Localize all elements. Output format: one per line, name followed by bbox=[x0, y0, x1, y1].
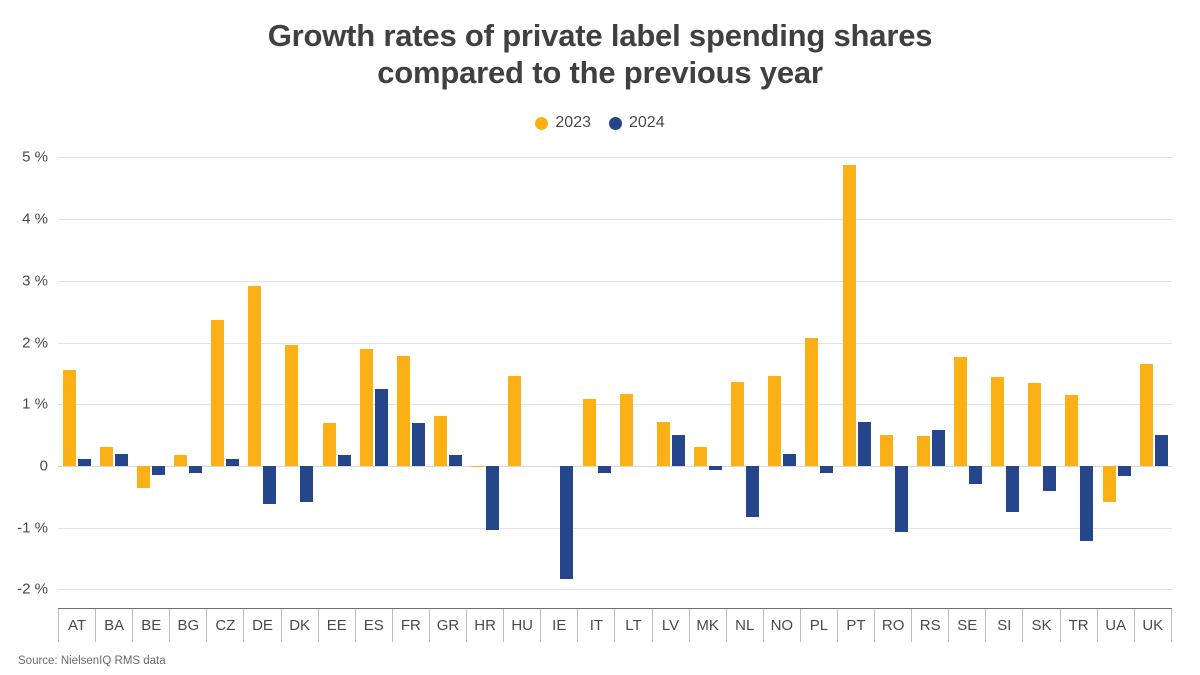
bar-PT-2024[interactable] bbox=[858, 422, 871, 466]
bar-group-AT bbox=[58, 145, 95, 608]
bar-SK-2024[interactable] bbox=[1043, 466, 1056, 491]
bar-group-RO bbox=[875, 145, 912, 608]
x-axis-labels: ATBABEBGCZDEDKEEESFRGRHRHUIEITLTLVMKNLNO… bbox=[58, 608, 1172, 642]
bar-group-SI bbox=[987, 145, 1024, 608]
y-axis-tick-label: 2 % bbox=[22, 334, 48, 351]
bar-NL-2023[interactable] bbox=[731, 382, 744, 466]
bar-group-BG bbox=[169, 145, 206, 608]
x-axis-tick-DK: DK bbox=[282, 609, 319, 642]
bar-RS-2023[interactable] bbox=[917, 436, 930, 466]
bar-UA-2024[interactable] bbox=[1118, 466, 1131, 476]
x-axis-tick-BE: BE bbox=[133, 609, 170, 642]
x-axis-tick-IT: IT bbox=[578, 609, 615, 642]
x-axis-tick-SE: SE bbox=[949, 609, 986, 642]
bar-NL-2024[interactable] bbox=[746, 466, 759, 517]
y-axis-tick-label: 1 % bbox=[22, 396, 48, 413]
legend-dot-icon bbox=[609, 117, 622, 130]
bar-BA-2023[interactable] bbox=[100, 447, 113, 466]
bar-group-PT bbox=[838, 145, 875, 608]
x-axis-tick-BA: BA bbox=[96, 609, 133, 642]
bar-EE-2023[interactable] bbox=[323, 423, 336, 466]
bar-group-UK bbox=[1135, 145, 1172, 608]
bar-group-UA bbox=[1098, 145, 1135, 608]
x-axis-tick-AT: AT bbox=[58, 609, 96, 642]
plot-area bbox=[58, 145, 1172, 608]
bar-group-HU bbox=[504, 145, 541, 608]
bar-FR-2024[interactable] bbox=[412, 423, 425, 466]
bar-group-EE bbox=[318, 145, 355, 608]
legend-item-2023[interactable]: 2023 bbox=[535, 114, 591, 132]
bar-BG-2024[interactable] bbox=[189, 466, 202, 473]
bar-RO-2023[interactable] bbox=[880, 435, 893, 466]
chart-page: Growth rates of private label spending s… bbox=[0, 0, 1200, 675]
legend-dot-icon bbox=[535, 117, 548, 130]
bar-SI-2023[interactable] bbox=[991, 377, 1004, 467]
bar-MK-2023[interactable] bbox=[694, 447, 707, 466]
bar-group-SE bbox=[949, 145, 986, 608]
bar-group-DK bbox=[281, 145, 318, 608]
bar-group-MK bbox=[689, 145, 726, 608]
bar-HU-2023[interactable] bbox=[508, 376, 521, 466]
bar-NO-2023[interactable] bbox=[768, 376, 781, 466]
y-axis-tick-label: 5 % bbox=[22, 149, 48, 166]
y-axis-labels: 5 %4 %3 %2 %1 %0-1 %-2 % bbox=[0, 145, 56, 608]
bar-MK-2024[interactable] bbox=[709, 466, 722, 470]
chart-title-line-1: Growth rates of private label spending s… bbox=[0, 18, 1200, 55]
x-axis-tick-SI: SI bbox=[986, 609, 1023, 642]
bar-UK-2024[interactable] bbox=[1155, 435, 1168, 466]
bar-SE-2023[interactable] bbox=[954, 357, 967, 466]
bar-group-DE bbox=[244, 145, 281, 608]
bar-group-RS bbox=[912, 145, 949, 608]
x-axis-tick-IE: IE bbox=[541, 609, 578, 642]
bar-PL-2024[interactable] bbox=[820, 466, 833, 473]
bar-GR-2023[interactable] bbox=[434, 416, 447, 466]
y-axis-tick-label: 0 bbox=[40, 458, 48, 475]
bar-AT-2023[interactable] bbox=[63, 370, 76, 466]
bar-BA-2024[interactable] bbox=[115, 454, 128, 466]
bar-group-LT bbox=[615, 145, 652, 608]
bar-group-NO bbox=[764, 145, 801, 608]
bar-LV-2023[interactable] bbox=[657, 422, 670, 466]
bar-group-IE bbox=[541, 145, 578, 608]
legend-item-label: 2023 bbox=[555, 114, 591, 132]
x-axis-tick-PL: PL bbox=[801, 609, 838, 642]
bar-LV-2024[interactable] bbox=[672, 435, 685, 466]
bar-group-CZ bbox=[207, 145, 244, 608]
bar-CZ-2023[interactable] bbox=[211, 320, 224, 466]
bar-NO-2024[interactable] bbox=[783, 454, 796, 466]
bar-RS-2024[interactable] bbox=[932, 430, 945, 466]
x-axis-tick-MK: MK bbox=[690, 609, 727, 642]
bar-group-LV bbox=[652, 145, 689, 608]
bar-GR-2024[interactable] bbox=[449, 455, 462, 466]
bar-FR-2023[interactable] bbox=[397, 356, 410, 466]
bar-UA-2023[interactable] bbox=[1103, 466, 1116, 502]
bar-HR-2023[interactable] bbox=[471, 466, 484, 467]
legend-item-2024[interactable]: 2024 bbox=[609, 114, 665, 132]
bar-SE-2024[interactable] bbox=[969, 466, 982, 484]
bar-group-GR bbox=[429, 145, 466, 608]
bar-HR-2024[interactable] bbox=[486, 466, 499, 530]
x-axis-tick-NO: NO bbox=[764, 609, 801, 642]
y-axis-tick-label: -2 % bbox=[17, 581, 48, 598]
bar-group-BE bbox=[132, 145, 169, 608]
bar-BE-2024[interactable] bbox=[152, 466, 165, 475]
bar-EE-2024[interactable] bbox=[338, 455, 351, 466]
bar-group-SK bbox=[1024, 145, 1061, 608]
bar-group-BA bbox=[95, 145, 132, 608]
bar-group-ES bbox=[355, 145, 392, 608]
bar-PL-2023[interactable] bbox=[805, 338, 818, 466]
x-axis-tick-BG: BG bbox=[170, 609, 207, 642]
bar-LT-2023[interactable] bbox=[620, 394, 633, 466]
bar-DK-2024[interactable] bbox=[300, 466, 313, 502]
x-axis-tick-LV: LV bbox=[653, 609, 690, 642]
bar-BG-2023[interactable] bbox=[174, 455, 187, 466]
bar-IT-2023[interactable] bbox=[583, 399, 596, 466]
y-axis-tick-label: 4 % bbox=[22, 211, 48, 228]
x-axis-tick-RO: RO bbox=[875, 609, 912, 642]
chart-legend: 20232024 bbox=[0, 114, 1200, 132]
bar-DE-2023[interactable] bbox=[248, 286, 261, 466]
x-axis-tick-HU: HU bbox=[504, 609, 541, 642]
bar-group-TR bbox=[1061, 145, 1098, 608]
bar-group-NL bbox=[727, 145, 764, 608]
legend-item-label: 2024 bbox=[629, 114, 665, 132]
y-axis-tick-label: 3 % bbox=[22, 272, 48, 289]
bar-group-IT bbox=[578, 145, 615, 608]
bar-RO-2024[interactable] bbox=[895, 466, 908, 532]
x-axis-tick-GR: GR bbox=[430, 609, 467, 642]
bar-SI-2024[interactable] bbox=[1006, 466, 1019, 512]
chart-title-line-2: compared to the previous year bbox=[0, 55, 1200, 92]
bar-IT-2024[interactable] bbox=[598, 466, 611, 473]
x-axis-tick-NL: NL bbox=[727, 609, 764, 642]
x-axis-tick-RS: RS bbox=[912, 609, 949, 642]
bar-PT-2023[interactable] bbox=[843, 165, 856, 466]
x-axis-tick-UK: UK bbox=[1135, 609, 1172, 642]
x-axis-tick-FR: FR bbox=[393, 609, 430, 642]
x-axis-tick-TR: TR bbox=[1061, 609, 1098, 642]
x-axis-tick-PT: PT bbox=[838, 609, 875, 642]
y-axis-tick-label: -1 % bbox=[17, 519, 48, 536]
bar-BE-2023[interactable] bbox=[137, 466, 150, 488]
x-axis-tick-EE: EE bbox=[319, 609, 356, 642]
bar-TR-2023[interactable] bbox=[1065, 395, 1078, 466]
x-axis-tick-CZ: CZ bbox=[207, 609, 244, 642]
chart-title: Growth rates of private label spending s… bbox=[0, 18, 1200, 91]
bar-AT-2024[interactable] bbox=[78, 459, 91, 466]
bar-ES-2024[interactable] bbox=[375, 389, 388, 466]
bar-IE-2024[interactable] bbox=[560, 466, 573, 579]
x-axis-tick-SK: SK bbox=[1023, 609, 1060, 642]
x-axis-tick-DE: DE bbox=[244, 609, 281, 642]
x-axis-tick-HR: HR bbox=[467, 609, 504, 642]
bar-ES-2023[interactable] bbox=[360, 349, 373, 466]
x-axis-tick-UA: UA bbox=[1098, 609, 1135, 642]
bar-TR-2024[interactable] bbox=[1080, 466, 1093, 541]
x-axis-tick-LT: LT bbox=[615, 609, 652, 642]
bar-DK-2023[interactable] bbox=[285, 345, 298, 466]
bar-group-FR bbox=[392, 145, 429, 608]
bar-UK-2023[interactable] bbox=[1140, 364, 1153, 466]
bar-group-PL bbox=[801, 145, 838, 608]
x-axis-tick-ES: ES bbox=[356, 609, 393, 642]
bar-CZ-2024[interactable] bbox=[226, 459, 239, 466]
bar-SK-2023[interactable] bbox=[1028, 383, 1041, 466]
bar-DE-2024[interactable] bbox=[263, 466, 276, 504]
source-note: Source: NielsenIQ RMS data bbox=[18, 655, 166, 667]
bar-group-HR bbox=[467, 145, 504, 608]
bar-series-container bbox=[58, 145, 1172, 608]
